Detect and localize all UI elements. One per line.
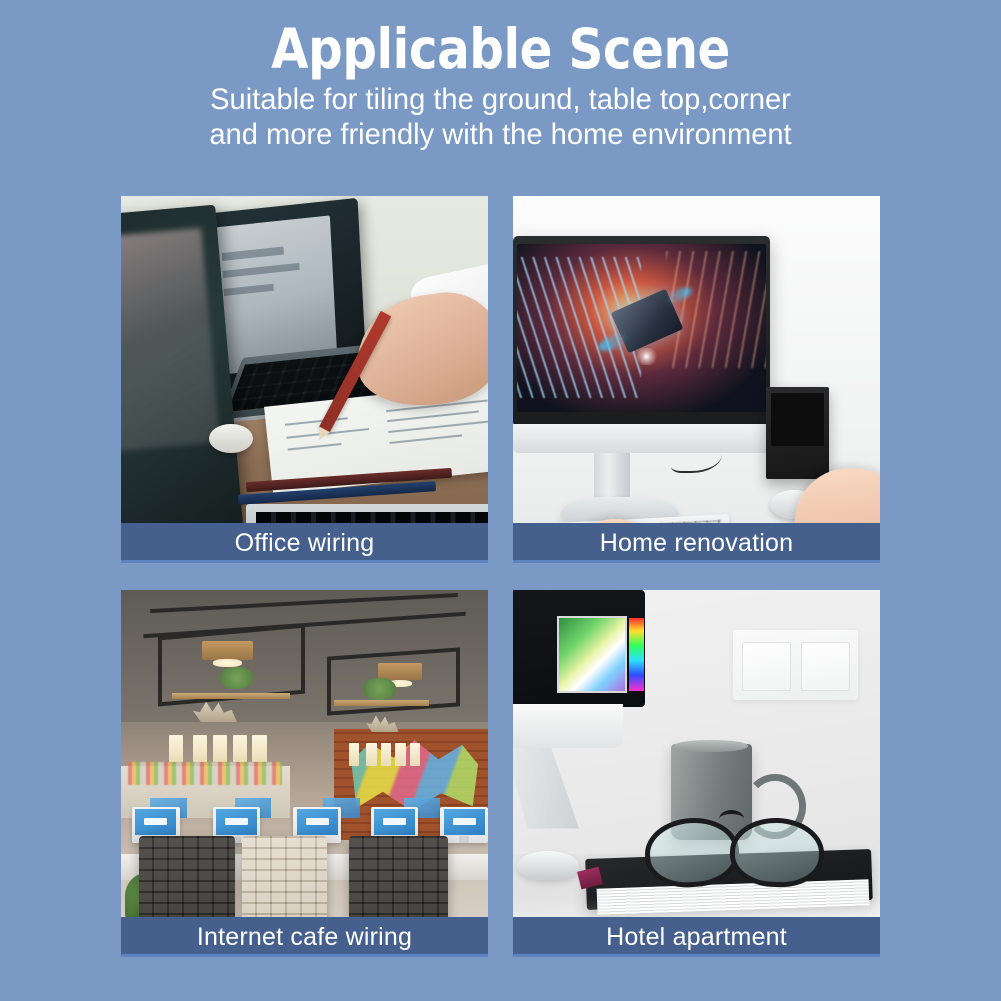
desktop-speaker <box>766 387 828 479</box>
antler-chandelier <box>349 729 430 766</box>
photo-hotel-apartment <box>513 590 880 957</box>
lamp-shade <box>213 735 227 762</box>
shelf-plant <box>363 678 396 700</box>
speaker-cable <box>671 442 722 473</box>
counter-merchandise <box>128 762 282 784</box>
lamp-shade <box>410 743 420 766</box>
lamp-shade <box>252 735 266 762</box>
photo-home-renovation <box>513 196 880 563</box>
shelf-plant <box>220 667 253 689</box>
hanging-shelf <box>172 693 289 699</box>
nebula-right <box>666 251 766 369</box>
wood-pendant-light <box>202 641 253 659</box>
caption-internet-cafe-wiring: Internet cafe wiring <box>121 917 488 957</box>
header: Applicable Scene Suitable for tiling the… <box>0 0 1001 152</box>
monitor-chin <box>513 704 623 748</box>
scene-card-internet-cafe-wiring[interactable]: Internet cafe wiring <box>121 590 488 957</box>
scene-grid: Office wiring Home renovation <box>121 196 880 966</box>
caption-home-renovation: Home renovation <box>513 523 880 563</box>
page-title: Applicable Scene <box>60 22 941 77</box>
lamp-shade <box>349 743 359 766</box>
computer-mouse <box>517 851 579 880</box>
subtitle-line-2: and more friendly with the home environm… <box>93 118 909 153</box>
lamp-shade <box>366 743 376 766</box>
hanging-shelf <box>334 700 429 706</box>
computer-mouse <box>209 424 253 453</box>
imac-bezel <box>513 236 770 427</box>
lamp-shade <box>395 743 405 766</box>
scene-card-hotel-apartment[interactable]: Hotel apartment <box>513 590 880 957</box>
scene-card-office-wiring[interactable]: Office wiring <box>121 196 488 563</box>
lamp-shade <box>193 735 207 762</box>
antler-chandelier <box>169 718 279 762</box>
color-picker-dialog <box>557 616 627 693</box>
imac-screen <box>517 244 766 412</box>
page-subtitle: Suitable for tiling the ground, table to… <box>15 83 986 152</box>
imac-chin <box>513 424 770 453</box>
lamp-shade <box>169 735 183 762</box>
photo-office-wiring <box>121 196 488 563</box>
lens-flare <box>634 348 659 365</box>
caption-hotel-apartment: Hotel apartment <box>513 917 880 957</box>
photo-internet-cafe <box>121 590 488 957</box>
lamp-shade <box>381 743 391 766</box>
scene-card-home-renovation[interactable]: Home renovation <box>513 196 880 563</box>
lamp-shade <box>233 735 247 762</box>
wall-switch-plate <box>733 630 858 700</box>
subtitle-line-1: Suitable for tiling the ground, table to… <box>93 83 909 118</box>
caption-office-wiring: Office wiring <box>121 523 488 563</box>
